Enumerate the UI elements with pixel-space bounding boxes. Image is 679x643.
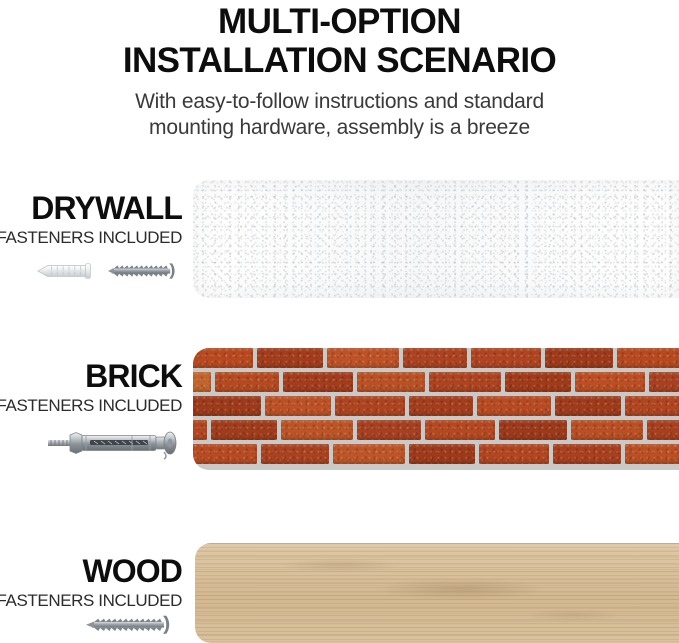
wood-screw-icon	[84, 611, 182, 639]
brick-label-block: BRICK FASTENERS INCLUDED	[0, 359, 190, 416]
material-name-wood: WOOD	[0, 554, 190, 588]
swatch-brick	[193, 348, 679, 470]
screw-icon	[106, 258, 182, 284]
section-brick: BRICK FASTENERS INCLUDED	[0, 348, 679, 472]
fasteners-note-wood: FASTENERS INCLUDED	[0, 588, 190, 611]
wood-label-block: WOOD FASTENERS INCLUDED	[0, 554, 190, 611]
page-title-line2: INSTALLATION SCENARIO	[0, 41, 679, 81]
section-drywall: DRYWALL FASTENERS INCLUDED	[0, 180, 679, 300]
brick-pattern	[193, 348, 679, 470]
page-subtitle-line2: mounting hardware, assembly is a breeze	[0, 115, 679, 141]
material-name-drywall: DRYWALL	[0, 191, 190, 225]
page-subtitle-line1: With easy-to-follow instructions and sta…	[0, 81, 679, 115]
swatch-wood	[195, 543, 679, 643]
header: MULTI-OPTION INSTALLATION SCENARIO With …	[0, 2, 679, 141]
section-wood: WOOD FASTENERS INCLUDED	[0, 543, 679, 643]
sleeve-anchor-bolt-icon	[46, 426, 182, 460]
wall-anchor-icon	[32, 258, 100, 284]
drywall-label-block: DRYWALL FASTENERS INCLUDED	[0, 191, 190, 248]
fastener-strip-drywall	[32, 258, 182, 284]
fasteners-note-brick: FASTENERS INCLUDED	[0, 393, 190, 416]
material-name-brick: BRICK	[0, 359, 190, 393]
fasteners-note-drywall: FASTENERS INCLUDED	[0, 225, 190, 248]
swatch-drywall	[193, 180, 679, 298]
fastener-strip-wood	[32, 611, 182, 639]
fastener-strip-brick	[32, 426, 182, 460]
page-title-line1: MULTI-OPTION	[0, 2, 679, 41]
